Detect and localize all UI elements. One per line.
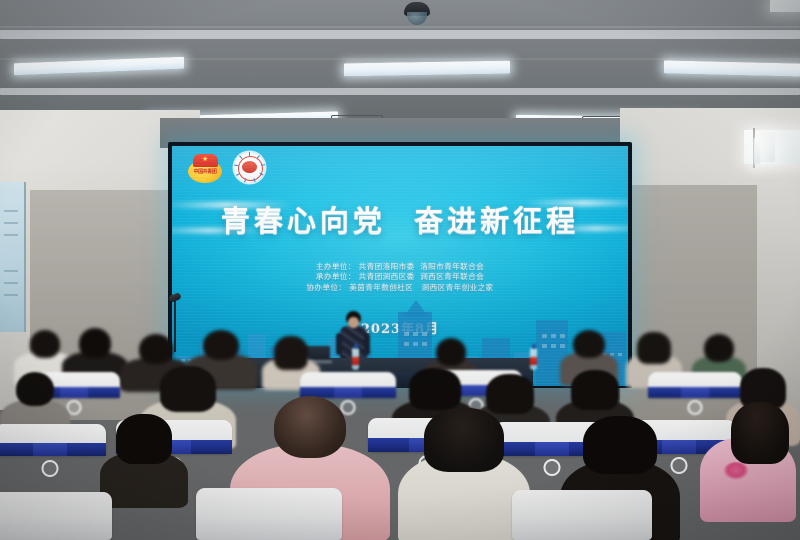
light-housing-rail — [0, 88, 800, 95]
ceiling-seam — [0, 26, 800, 28]
chair[interactable] — [0, 424, 106, 480]
window-pane — [754, 138, 760, 164]
chair[interactable] — [0, 492, 112, 540]
child-pink-bear-shirt — [700, 402, 796, 520]
chair[interactable] — [512, 490, 652, 540]
wall-display-panel — [0, 182, 26, 332]
chair[interactable] — [196, 488, 342, 540]
attendee — [100, 414, 188, 504]
window — [770, 0, 800, 12]
light-housing-rail — [0, 30, 800, 39]
attendee — [398, 408, 530, 540]
conference-hall-photo: ★ 中国共青团 青春心向党 奋进新征程 主办单位： 共青团洛阳市委 洛阳市青 — [0, 0, 800, 540]
